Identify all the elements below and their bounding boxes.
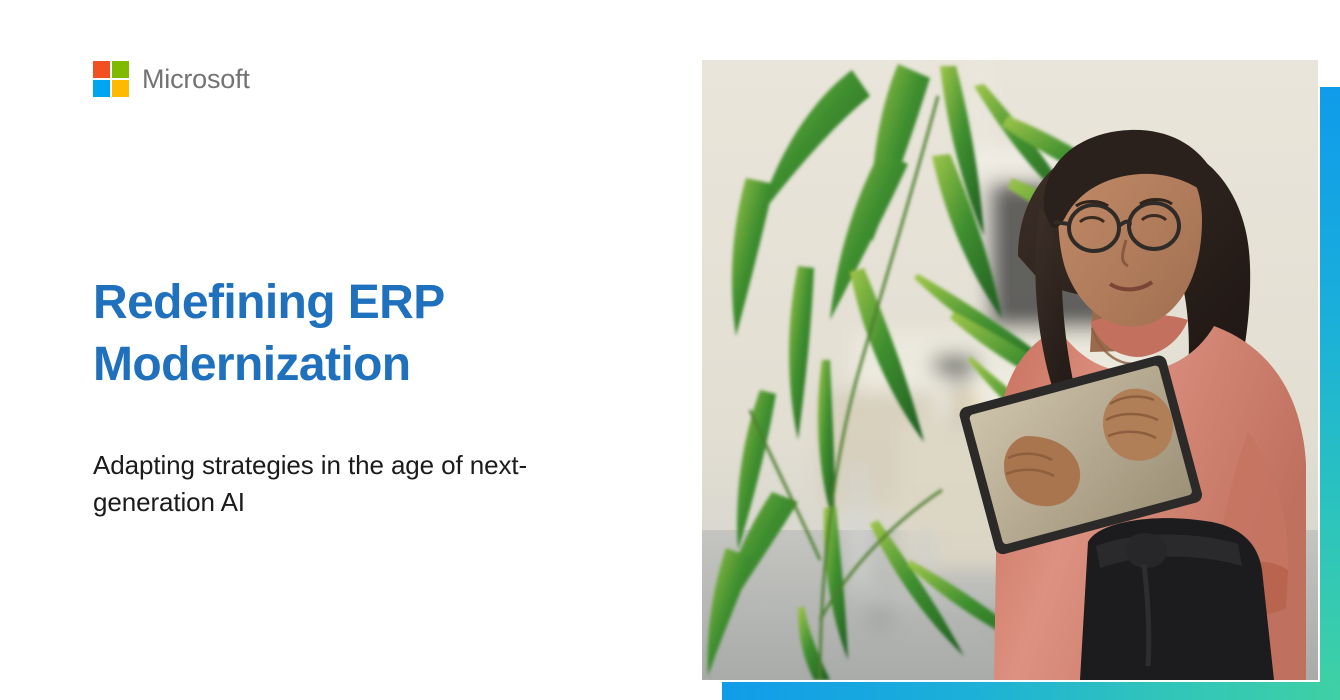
- green-square: [112, 61, 129, 78]
- blue-square: [93, 80, 110, 97]
- microsoft-wordmark: Microsoft: [142, 66, 250, 93]
- slide-subtitle: Adapting strategies in the age of next-g…: [93, 447, 593, 521]
- yellow-square: [112, 80, 129, 97]
- right-accent-bar: [1320, 87, 1340, 700]
- presentation-slide: Microsoft Redefining ERP Modernization A…: [0, 0, 1340, 700]
- red-square: [93, 61, 110, 78]
- microsoft-logo-icon: [93, 61, 129, 97]
- slide-title: Redefining ERP Modernization: [93, 272, 613, 396]
- bottom-accent-bar: [722, 682, 1340, 700]
- microsoft-brand-lockup: Microsoft: [93, 61, 250, 97]
- hero-image: [702, 60, 1318, 680]
